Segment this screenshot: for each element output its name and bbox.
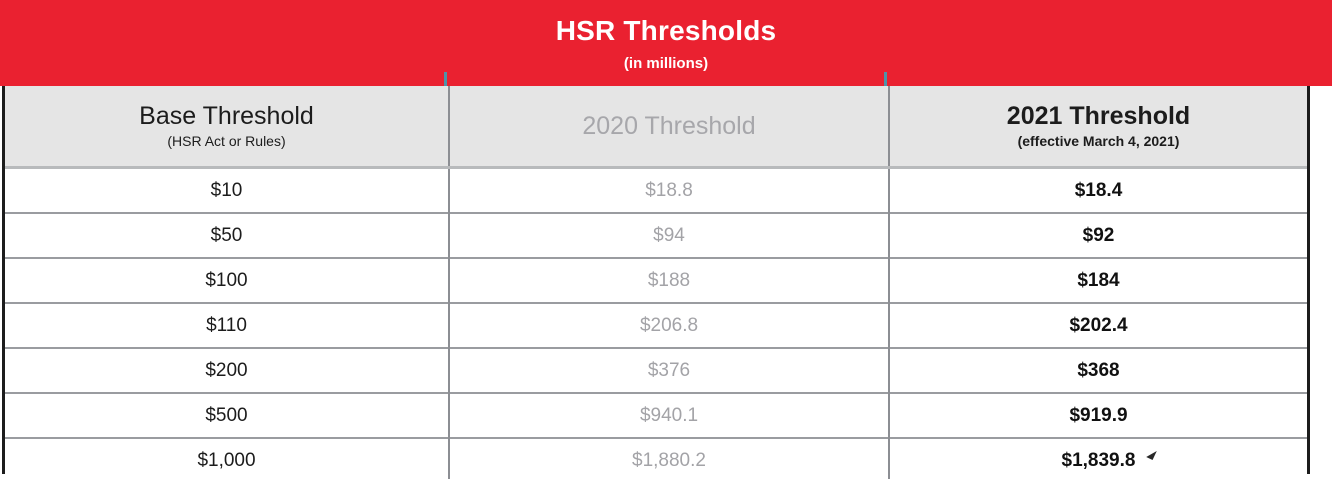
thresholds-table: Base Threshold (HSR Act or Rules) 2020 T… [5,86,1307,479]
cell-2021-threshold: $202.4 [889,303,1307,348]
cell-base-threshold: $50 [5,213,449,258]
table-row: $50 $94 $92 [5,213,1307,258]
cell-2021-threshold: $18.4 [889,168,1307,214]
cell-2020-threshold: $1,880.2 [449,438,889,479]
cell-2020-threshold: $188 [449,258,889,303]
cell-base-threshold: $100 [5,258,449,303]
column-header-base-threshold-subtitle: (HSR Act or Rules) [11,130,442,150]
table-row: $110 $206.8 $202.4 [5,303,1307,348]
table-banner: HSR Thresholds (in millions) [0,0,1332,86]
table-header-row: Base Threshold (HSR Act or Rules) 2020 T… [5,86,1307,168]
column-divider-tick-2 [884,72,887,86]
table-body: $10 $18.8 $18.4 $50 $94 $92 $100 $188 $1… [5,168,1307,479]
cell-2021-threshold: $184 [889,258,1307,303]
column-header-base-threshold-title: Base Threshold [11,103,442,130]
banner-subtitle: (in millions) [0,45,1332,71]
cell-2021-threshold: $919.9 [889,393,1307,438]
column-header-2020-threshold: 2020 Threshold [449,86,889,168]
column-divider-tick-1 [444,72,447,86]
table-row: $1,000 $1,880.2 $1,839.8 [5,438,1307,479]
hsr-thresholds-table-page: HSR Thresholds (in millions) Base Thresh… [0,0,1332,479]
cell-2020-threshold: $94 [449,213,889,258]
banner-title: HSR Thresholds [0,0,1332,45]
table-row: $100 $188 $184 [5,258,1307,303]
cell-2020-threshold: $206.8 [449,303,889,348]
cell-2021-threshold: $1,839.8 [889,438,1307,479]
cell-2020-threshold: $18.8 [449,168,889,214]
column-header-2020-threshold-title: 2020 Threshold [456,113,882,140]
column-header-base-threshold: Base Threshold (HSR Act or Rules) [5,86,449,168]
column-header-2021-threshold-title: 2021 Threshold [896,103,1301,130]
table-row: $10 $18.8 $18.4 [5,168,1307,214]
cell-2021-threshold: $92 [889,213,1307,258]
cell-base-threshold: $110 [5,303,449,348]
cell-base-threshold: $10 [5,168,449,214]
cell-2020-threshold: $940.1 [449,393,889,438]
cell-base-threshold: $500 [5,393,449,438]
cell-base-threshold: $200 [5,348,449,393]
cell-2020-threshold: $376 [449,348,889,393]
thresholds-table-frame: Base Threshold (HSR Act or Rules) 2020 T… [2,86,1310,474]
column-header-2021-threshold: 2021 Threshold (effective March 4, 2021) [889,86,1307,168]
column-header-2021-threshold-subtitle: (effective March 4, 2021) [896,130,1301,150]
table-row: $500 $940.1 $919.9 [5,393,1307,438]
table-row: $200 $376 $368 [5,348,1307,393]
cell-2021-threshold: $368 [889,348,1307,393]
cell-base-threshold: $1,000 [5,438,449,479]
